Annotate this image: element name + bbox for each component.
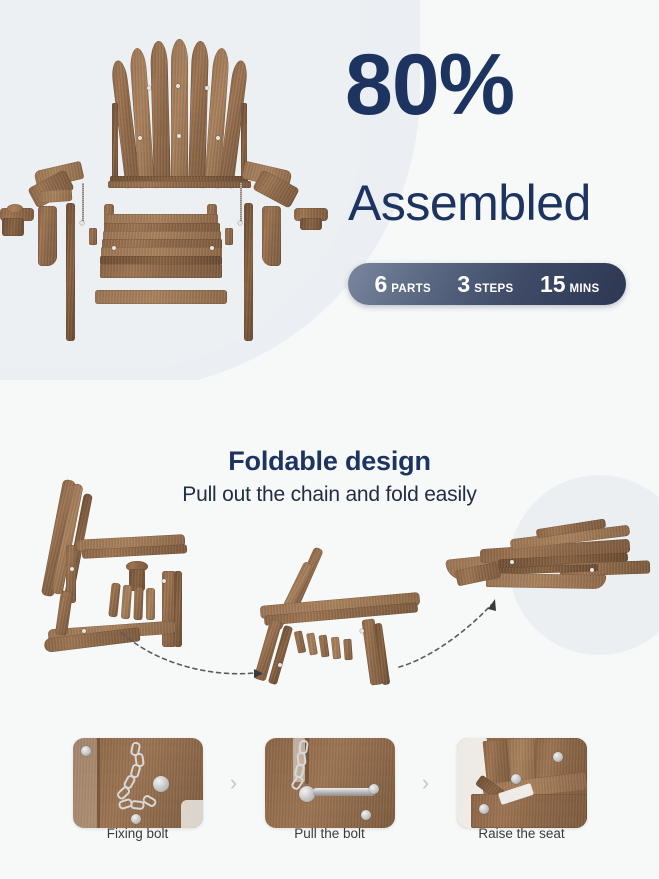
section-title: Foldable design: [0, 446, 659, 477]
caption-pull-the-bolt: Pull the bolt: [265, 826, 395, 841]
foldable-design-section: Foldable design Pull out the chain and f…: [0, 380, 659, 879]
stat-mins: 15 MINS: [540, 271, 600, 298]
page-title: 80%: [345, 42, 514, 128]
caption-fixing-bolt: Fixing bolt: [73, 826, 203, 841]
assembly-section: 80% Assembled 6 PARTS 3 STEPS 15 MINS: [0, 0, 659, 380]
thumbnail-pull-the-bolt[interactable]: [265, 738, 395, 828]
exploded-chair-diagram: [0, 18, 330, 368]
stat-parts-value: 6: [375, 271, 388, 298]
chevron-right-icon-2: ›: [395, 772, 457, 794]
stats-badge: 6 PARTS 3 STEPS 15 MINS: [348, 263, 626, 305]
fold-arrow-2: [395, 595, 515, 673]
product-infographic: 80% Assembled 6 PARTS 3 STEPS 15 MINS Fo…: [0, 0, 659, 879]
stat-parts: 6 PARTS: [375, 271, 431, 298]
fold-arrow-1: [118, 625, 268, 685]
step-thumbnails: › ›: [0, 728, 659, 838]
step-captions: Fixing bolt Pull the bolt Raise the seat: [0, 826, 659, 841]
thumbnail-raise-the-seat[interactable]: [457, 738, 587, 828]
stat-steps: 3 STEPS: [457, 271, 513, 298]
stat-mins-value: 15: [540, 271, 566, 298]
subtitle: Assembled: [348, 178, 591, 228]
thumbnail-fixing-bolt[interactable]: [73, 738, 203, 828]
chevron-right-icon-1: ›: [203, 772, 265, 794]
caption-raise-the-seat: Raise the seat: [457, 826, 587, 841]
stat-steps-label: STEPS: [474, 283, 513, 295]
stat-parts-label: PARTS: [391, 283, 431, 295]
stat-steps-value: 3: [457, 271, 470, 298]
stat-mins-label: MINS: [570, 283, 600, 295]
